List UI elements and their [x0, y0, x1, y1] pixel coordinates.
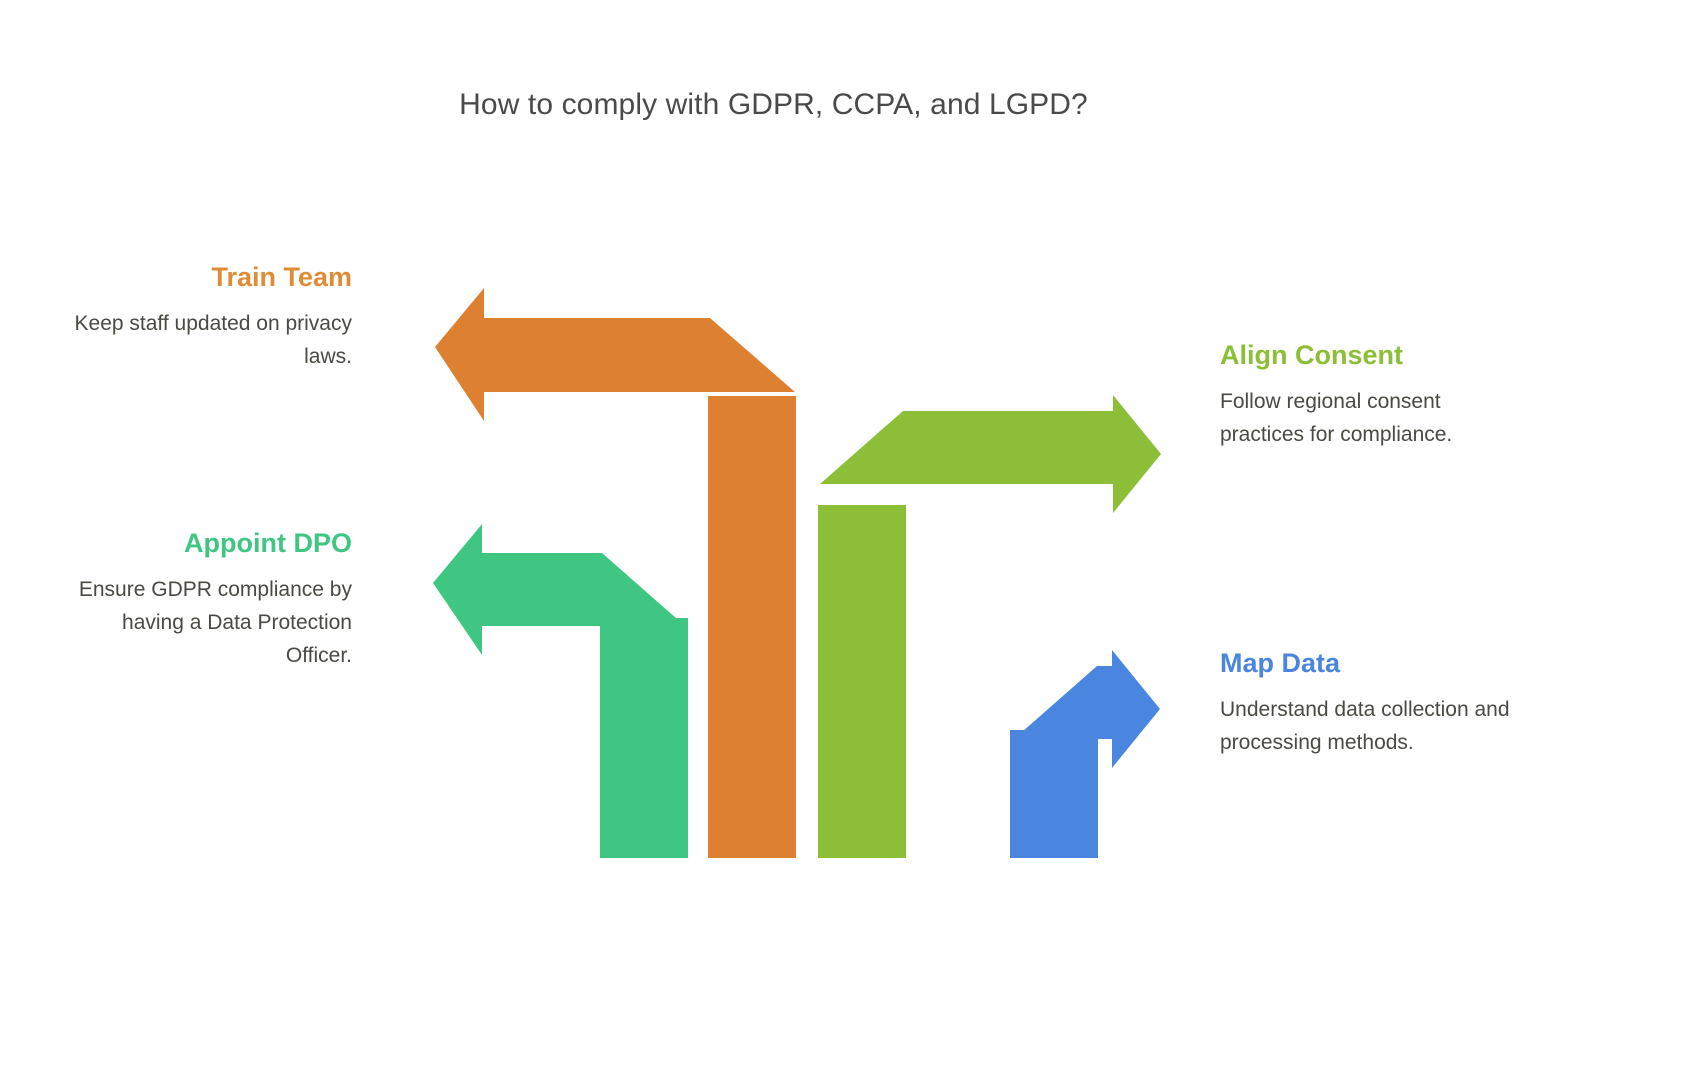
bar-appoint-dpo[interactable] — [600, 618, 688, 858]
arrow-group-align-consent[interactable] — [818, 395, 1161, 858]
step-block-train-team: Train Team Keep staff updated on privacy… — [55, 262, 352, 373]
arrow-group-map-data[interactable] — [1010, 650, 1160, 858]
step-heading-map-data: Map Data — [1220, 648, 1520, 679]
step-block-map-data: Map Data Understand data collection and … — [1220, 648, 1520, 759]
step-block-align-consent: Align Consent Follow regional consent pr… — [1220, 340, 1520, 451]
bar-align-consent[interactable] — [818, 505, 906, 858]
step-description-map-data: Understand data collection and processin… — [1220, 693, 1520, 759]
arrow-group-appoint-dpo[interactable] — [433, 524, 688, 858]
step-block-appoint-dpo: Appoint DPO Ensure GDPR compliance by ha… — [55, 528, 352, 673]
bar-train-team[interactable] — [708, 396, 796, 858]
step-description-appoint-dpo: Ensure GDPR compliance by having a Data … — [55, 573, 352, 673]
right-arrow-align-consent[interactable] — [820, 395, 1161, 513]
step-heading-align-consent: Align Consent — [1220, 340, 1520, 371]
infographic-canvas: How to comply with GDPR, CCPA, and LGPD?… — [0, 0, 1704, 1071]
step-heading-train-team: Train Team — [55, 262, 352, 293]
bar-map-data[interactable] — [1010, 730, 1098, 858]
step-heading-appoint-dpo: Appoint DPO — [55, 528, 352, 559]
step-description-align-consent: Follow regional consent practices for co… — [1220, 385, 1520, 451]
step-description-train-team: Keep staff updated on privacy laws. — [55, 307, 352, 373]
